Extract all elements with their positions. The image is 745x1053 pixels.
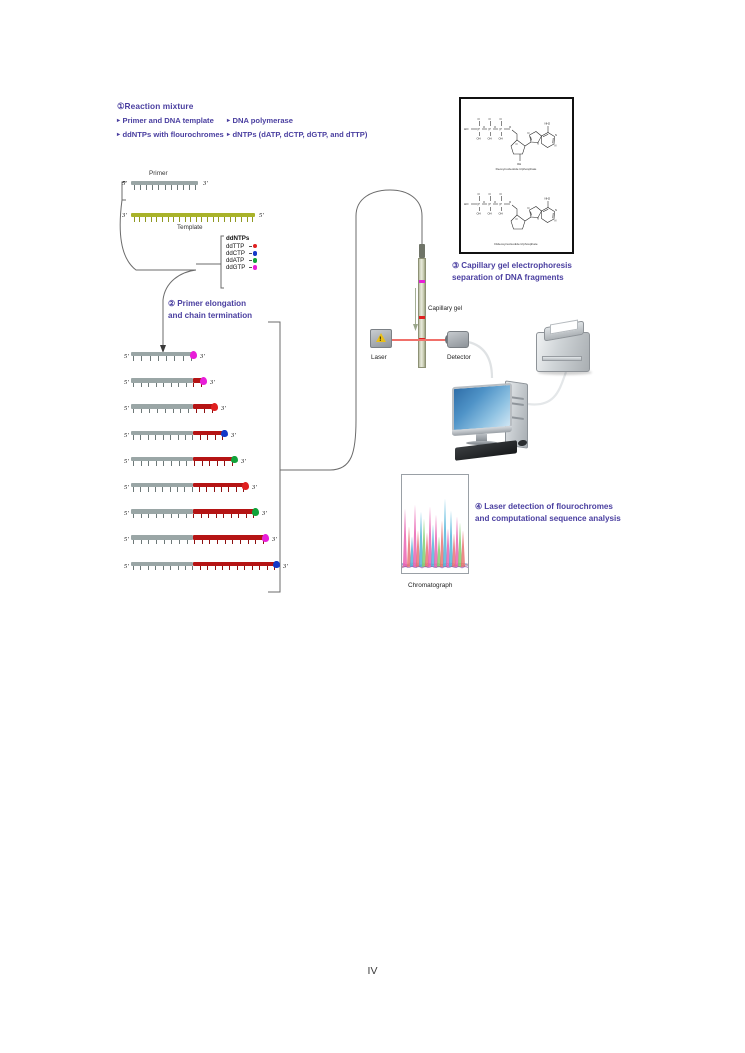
ddntp-legend-rows: ddTTPddCTPddATPddGTP [226,243,262,272]
dna-fragment: 5'3' [124,483,274,495]
svg-text:OH: OH [488,137,492,141]
bullet-ddntps: ddNTPs with flourochromes [117,129,221,141]
primer-3prime-label: 3' [203,180,208,187]
deoxynucleotide-caption: Deoxynucleotide triphosphate [496,167,537,171]
primer-strand: Primer 5' 3' [131,181,198,190]
primer-5prime-label: 5' [122,180,127,187]
ddntp-color-dot [253,258,258,263]
svg-text:P: P [489,127,492,131]
ddntp-connector [249,260,252,261]
printer-output-tray [542,356,582,361]
svg-text:O: O [494,125,496,129]
step4-caption-line2: and computational sequence analysis [475,513,635,525]
fragment-5prime-label: 5' [124,484,129,491]
svg-text:O: O [509,200,512,204]
ddntp-color-dot [253,265,258,270]
printer [534,320,598,376]
fragment-terminator-ddGTP [190,351,197,359]
fragment-3prime-label: 3' [272,536,277,543]
fragment-extension-segment [193,535,265,539]
svg-text:OH: OH [499,137,503,141]
svg-text:N: N [555,208,557,212]
bullet-primer-template: Primer and DNA template [117,115,221,127]
svg-text:N: N [528,206,530,210]
svg-text:N: N [555,144,557,148]
fragment-5prime-label: 5' [124,432,129,439]
step2-caption: ②Primer elongation and chain termination [168,298,298,321]
svg-text:OH: OH [477,212,481,216]
step2-caption-line2: and chain termination [168,310,298,322]
step1-bullets-row1: Primer and DNA template DNA polymerase [117,115,407,127]
fragment-5prime-label: 5' [124,353,129,360]
laser-instrument: ! [370,329,392,348]
template-ticks [131,217,255,222]
ddntp-label: ddTTP [226,243,249,250]
svg-text:O: O [500,117,503,121]
fragment-5prime-label: 5' [124,536,129,543]
fragment-terminator-ddATP [231,456,238,464]
dna-fragment: 5'3' [124,431,274,443]
detector-instrument [447,331,469,348]
fragment-3prime-label: 3' [221,405,226,412]
ddntp-legend-title: ddNTPs [226,235,262,242]
svg-text:O: O [489,192,492,196]
ddntp-label: ddCTP [226,250,249,257]
step3-number: ③ [452,261,459,270]
svg-text:O: O [509,125,512,129]
svg-text:N: N [528,131,530,135]
svg-text:OH: OH [477,137,481,141]
computer-monitor [452,385,514,447]
nucleotide-structures-svg: HO P O OH O P O OH O P O OH O [461,99,572,252]
ddntp-legend-item: ddTTP [226,243,262,250]
capillary-gel-label: Capillary gel [428,305,462,312]
svg-text:OH: OH [499,212,503,216]
fragment-extension-segment [193,483,245,487]
template-5prime-label: 5' [259,212,264,219]
fragment-terminator-ddCTP [273,561,280,569]
step1-title: ①Reaction mixture [117,100,407,112]
fragment-terminator-ddGTP [200,377,207,385]
fragment-3prime-label: 3' [231,432,236,439]
svg-text:O: O [516,217,518,221]
fragment-terminator-ddCTP [221,430,228,438]
svg-text:P: P [500,127,503,131]
dna-fragment: 5'3' [124,404,274,416]
ddntp-label: ddGTP [226,264,249,271]
ddntp-connector [249,246,252,247]
capillary-gel-tube [418,258,426,368]
svg-text:OH: OH [488,212,492,216]
fragment-extension-segment [193,457,234,461]
nucleotide-structure-box: HO P O OH O P O OH O P O OH O [459,97,574,254]
detector-label: Detector [447,354,471,361]
dna-fragment: 5'3' [124,352,274,364]
step4-number: ④ [475,502,482,511]
svg-text:O: O [483,200,485,204]
step1-bullets-row2: ddNTPs with flourochromes dNTPs (dATP, d… [117,129,407,141]
ddntp-label: ddATP [226,257,249,264]
hazard-exclamation-icon: ! [379,337,381,343]
template-label: Template [177,224,203,231]
bullet-dna-polymerase: DNA polymerase [227,115,293,127]
monitor-screen [452,383,512,432]
dideoxynucleotide-caption: Dideoxynucleotide triphosphate [494,242,537,246]
primer-label: Primer [149,170,168,177]
svg-text:O: O [494,200,496,204]
svg-text:HO: HO [464,127,469,131]
migration-direction-arrow [412,288,419,332]
page-number: IV [0,965,745,977]
fragment-3prime-label: 3' [210,379,215,386]
svg-text:P: P [478,202,481,206]
fragment-extension-segment [193,431,224,435]
fragment-5prime-label: 5' [124,510,129,517]
svg-text:N: N [555,133,557,137]
ddntp-color-dot [253,251,258,256]
fragment-extension-segment [193,562,276,566]
dna-fragment: 5'3' [124,378,274,390]
template-strand: 3' 5' Template [131,213,255,222]
fragment-terminator-ddGTP [262,534,269,542]
laser-label: Laser [371,354,387,361]
svg-text:P: P [489,202,492,206]
ddntp-legend-item: ddGTP [226,264,262,271]
step3-caption-line2: separation of DNA fragments [452,272,602,284]
fragment-3prime-label: 3' [200,353,205,360]
ddntp-color-dot [253,244,258,249]
svg-text:P: P [478,127,481,131]
diagram-page: ①Reaction mixture Primer and DNA templat… [0,0,745,1053]
capillary-tip [419,244,425,258]
step3-caption: ③Capillary gel electrophoresis separatio… [452,260,602,283]
fragment-terminator-ddTTP [211,403,218,411]
detector-body [447,331,469,348]
dna-fragment: 5'3' [124,509,274,521]
svg-text:N: N [537,217,539,221]
svg-text:P: P [500,202,503,206]
ddntp-legend: ddNTPs ddTTPddCTPddATPddGTP [226,235,262,271]
svg-text:O: O [516,142,518,146]
flow-connectors [0,0,745,1053]
ddntp-connector [249,267,252,268]
svg-text:NH2: NH2 [545,122,551,126]
svg-text:O: O [478,192,481,196]
fragment-3prime-label: 3' [241,458,246,465]
step1-number: ① [117,101,125,111]
dna-fragment: 5'3' [124,457,274,469]
svg-text:HO: HO [464,202,469,206]
laser-beam [392,339,447,341]
capillary-band [419,316,425,319]
step2-number: ② [168,299,175,308]
capillary-band [419,280,425,283]
fragment-5prime-label: 5' [124,458,129,465]
chromatograph-label: Chromatograph [408,582,452,589]
svg-text:O: O [489,117,492,121]
fragment-5prime-label: 5' [124,405,129,412]
chromatograph-panel [401,474,469,574]
svg-text:O: O [478,117,481,121]
svg-text:OH: OH [517,162,521,166]
svg-text:O: O [500,192,503,196]
fragment-terminator-ddTTP [242,482,249,490]
dna-fragment: 5'3' [124,562,274,574]
dna-fragment: 5'3' [124,535,274,547]
primer-ticks [131,185,198,190]
template-3prime-label: 3' [122,212,127,219]
capillary-gel-body [418,258,426,368]
svg-text:N: N [537,142,539,146]
fragment-5prime-label: 5' [124,563,129,570]
chromatograph-trace [402,475,468,573]
ddntp-legend-item: ddATP [226,257,262,264]
ddntp-legend-item: ddCTP [226,250,262,257]
svg-text:O: O [483,125,485,129]
fragment-3prime-label: 3' [252,484,257,491]
step4-caption: ④Laser detection of flourochromes and co… [475,501,635,524]
svg-text:N: N [555,219,557,223]
bullet-dntps: dNTPs (dATP, dCTP, dGTP, and dTTP) [227,129,367,141]
fragment-3prime-label: 3' [262,510,267,517]
fragment-3prime-label: 3' [283,563,288,570]
step1-reaction-mixture: ①Reaction mixture Primer and DNA templat… [117,100,407,141]
fragment-5prime-label: 5' [124,379,129,386]
ddntp-connector [249,253,252,254]
fragment-terminator-ddATP [252,508,259,516]
svg-text:NH2: NH2 [545,197,551,201]
dna-fragment-ladder: 5'3'5'3'5'3'5'3'5'3'5'3'5'3'5'3'5'3' [124,352,274,588]
